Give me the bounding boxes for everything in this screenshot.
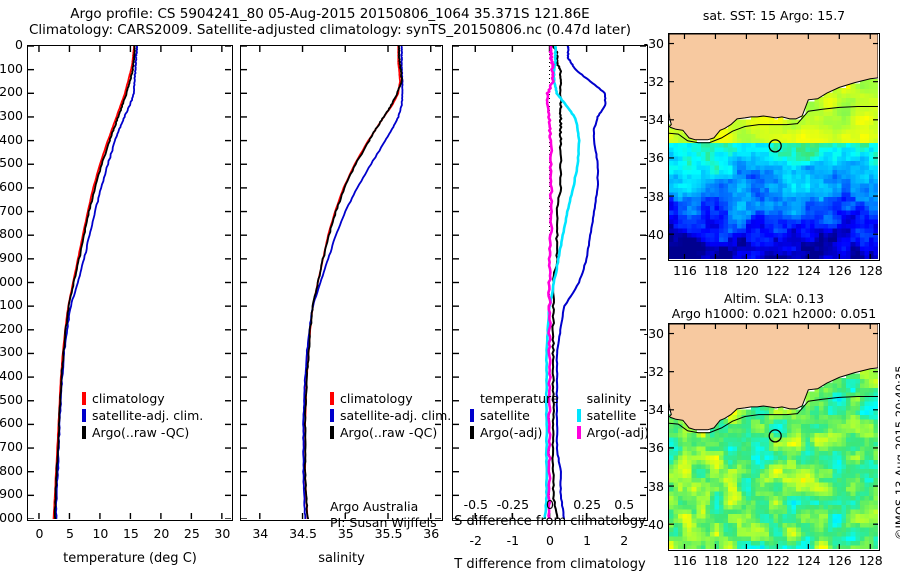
legend-item: Argo(..raw -QC) xyxy=(82,424,203,441)
map-lon-tick-label: 128 xyxy=(854,553,888,568)
axis-tick-label: 0 xyxy=(530,497,570,512)
legend-label: Argo(..raw -QC) xyxy=(92,424,189,441)
depth-tick-label: 900 xyxy=(0,250,23,265)
axis-tick-label: 34.5 xyxy=(283,526,323,541)
page-title: Argo profile: CS 5904241_80 05-Aug-2015 … xyxy=(0,6,660,38)
legend-item: Argo(..raw -QC) xyxy=(330,424,451,441)
depth-tick-label: 1600 xyxy=(0,415,23,430)
sst-header-line: sat. SST: 15 Argo: 15.7 xyxy=(663,8,885,23)
depth-tick-label: 1100 xyxy=(0,297,23,312)
map-lat-tick-label: -36 xyxy=(630,150,664,165)
legend-item: Argo(-adj) xyxy=(577,424,649,441)
sla-map-header: Altim. SLA: 0.13 Argo h1000: 0.021 h2000… xyxy=(663,291,885,321)
sst-map-canvas xyxy=(669,34,878,259)
salinity-plot-area xyxy=(241,46,441,519)
map-lat-tick-label: -34 xyxy=(630,112,664,127)
legend-item: climatology xyxy=(82,390,203,407)
sla-map[interactable] xyxy=(668,323,880,551)
axis-tick-label: 2 xyxy=(604,533,644,548)
legend-label: satellite xyxy=(587,407,637,424)
salinity-axis-label: salinity xyxy=(240,551,443,566)
salinity-legend: climatologysatellite-adj. clim.Argo(..ra… xyxy=(330,390,451,441)
difference-legend: temperaturesatelliteArgo(-adj)salinitysa… xyxy=(470,390,649,441)
legend-group-header: temperature xyxy=(480,390,559,407)
legend-label: climatology xyxy=(340,390,413,407)
legend-color-swatch xyxy=(82,426,86,439)
map-lat-tick-label: -30 xyxy=(630,36,664,51)
map-lat-tick-label: -32 xyxy=(630,364,664,379)
legend-item: Argo(-adj) xyxy=(470,424,559,441)
depth-tick-label: 700 xyxy=(0,203,23,218)
legend-item: satellite xyxy=(470,407,559,424)
axis-tick-label: 30 xyxy=(202,526,242,541)
depth-tick-label: 1200 xyxy=(0,321,23,336)
title-line-2: Climatology: CARS2009. Satellite-adjuste… xyxy=(0,22,660,38)
map-lat-tick-label: -38 xyxy=(630,479,664,494)
axis-tick-label: 0.25 xyxy=(567,497,607,512)
legend-label: Argo(-adj) xyxy=(480,424,542,441)
depth-tick-label: 100 xyxy=(0,61,23,76)
difference-plot-area xyxy=(453,46,646,519)
depth-tick-label: 1000 xyxy=(0,274,23,289)
axis-tick-label: 34 xyxy=(240,526,280,541)
temperature-plot-area xyxy=(28,46,231,519)
map-lat-tick-label: -36 xyxy=(630,440,664,455)
imos-credit: ©IMOS 13-Aug-2015 20:40:35 xyxy=(893,365,900,540)
salinity-difference-axis-label: S difference from climatology xyxy=(452,514,648,529)
legend-color-swatch xyxy=(330,409,334,422)
map-lon-tick-label: 122 xyxy=(761,263,795,278)
map-lat-tick-label: -38 xyxy=(630,189,664,204)
depth-tick-label: 0 xyxy=(0,37,23,52)
legend-item: climatology xyxy=(330,390,451,407)
map-lon-tick-label: 120 xyxy=(730,553,764,568)
map-lat-tick-label: -34 xyxy=(630,402,664,417)
map-lon-tick-label: 124 xyxy=(792,553,826,568)
sla-header-line-1: Altim. SLA: 0.13 xyxy=(663,291,885,306)
temperature-legend: climatologysatellite-adj. clim.Argo(..ra… xyxy=(82,390,203,441)
title-line-1: Argo profile: CS 5904241_80 05-Aug-2015 … xyxy=(0,6,660,22)
map-lon-tick-label: 124 xyxy=(792,263,826,278)
note-line-1: Argo Australia xyxy=(330,499,437,515)
map-lon-tick-label: 120 xyxy=(730,263,764,278)
legend-color-swatch xyxy=(470,409,474,422)
legend-color-swatch xyxy=(82,409,86,422)
temperature-difference-axis-label: T difference from climatology xyxy=(452,557,648,572)
legend-label: Argo(..raw -QC) xyxy=(340,424,437,441)
axis-tick-label: 0 xyxy=(530,533,570,548)
salinity-profile-panel xyxy=(240,45,443,521)
depth-tick-label: 1900 xyxy=(0,486,23,501)
argo-australia-note: Argo Australia PI: Susan Wijffels xyxy=(330,499,437,531)
map-lon-tick-label: 118 xyxy=(699,263,733,278)
legend-color-swatch xyxy=(82,392,86,405)
map-lon-tick-label: 116 xyxy=(668,263,702,278)
map-lon-tick-label: 126 xyxy=(823,553,857,568)
legend-color-swatch xyxy=(330,426,334,439)
axis-tick-label: 0.5 xyxy=(604,497,644,512)
map-lat-tick-label: -40 xyxy=(630,517,664,532)
depth-tick-label: 500 xyxy=(0,155,23,170)
map-lat-tick-label: -40 xyxy=(630,227,664,242)
sla-header-line-2: Argo h1000: 0.021 h2000: 0.051 xyxy=(663,306,885,321)
axis-tick-label: -2 xyxy=(456,533,496,548)
map-lat-tick-label: -30 xyxy=(630,326,664,341)
axis-tick-label: -1 xyxy=(493,533,533,548)
depth-tick-label: 800 xyxy=(0,226,23,241)
depth-tick-label: 600 xyxy=(0,179,23,194)
depth-tick-label: 1400 xyxy=(0,368,23,383)
legend-label: climatology xyxy=(92,390,165,407)
legend-label: Argo(-adj) xyxy=(587,424,649,441)
depth-tick-label: 1700 xyxy=(0,439,23,454)
legend-item: satellite-adj. clim. xyxy=(82,407,203,424)
sla-map-canvas xyxy=(669,324,878,549)
sst-map-header: sat. SST: 15 Argo: 15.7 xyxy=(663,8,885,23)
legend-item: satellite-adj. clim. xyxy=(330,407,451,424)
depth-tick-label: 300 xyxy=(0,108,23,123)
legend-column: temperaturesatelliteArgo(-adj) xyxy=(470,390,559,441)
difference-profile-panel xyxy=(452,45,648,521)
legend-color-swatch xyxy=(470,426,474,439)
temperature-axis-label: temperature (deg C) xyxy=(27,551,233,566)
map-lon-tick-label: 118 xyxy=(699,553,733,568)
depth-tick-label: 2000 xyxy=(0,510,23,525)
axis-tick-label: 1 xyxy=(567,533,607,548)
depth-tick-label: 200 xyxy=(0,84,23,99)
legend-label: satellite xyxy=(480,407,530,424)
note-line-2: PI: Susan Wijffels xyxy=(330,515,437,531)
depth-tick-label: 1800 xyxy=(0,463,23,478)
legend-color-swatch xyxy=(577,409,581,422)
depth-tick-label: 400 xyxy=(0,132,23,147)
sst-map[interactable] xyxy=(668,33,880,261)
axis-tick-label: -0.25 xyxy=(493,497,533,512)
map-lon-tick-label: 116 xyxy=(668,553,702,568)
legend-label: satellite-adj. clim. xyxy=(92,407,203,424)
map-lat-tick-label: -32 xyxy=(630,74,664,89)
legend-label: satellite-adj. clim. xyxy=(340,407,451,424)
depth-tick-label: 1500 xyxy=(0,392,23,407)
map-lon-tick-label: 128 xyxy=(854,263,888,278)
legend-color-swatch xyxy=(577,426,581,439)
legend-color-swatch xyxy=(330,392,334,405)
map-lon-tick-label: 122 xyxy=(761,553,795,568)
temperature-profile-panel xyxy=(27,45,233,521)
map-lon-tick-label: 126 xyxy=(823,263,857,278)
depth-tick-label: 1300 xyxy=(0,344,23,359)
axis-tick-label: -0.5 xyxy=(456,497,496,512)
